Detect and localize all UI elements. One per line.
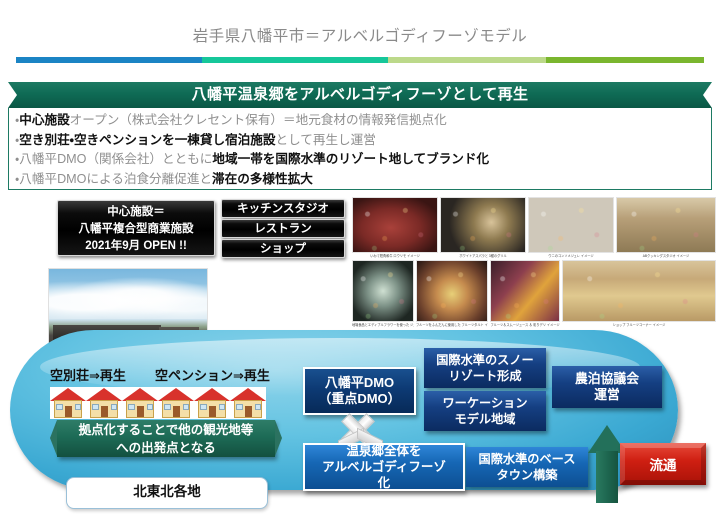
photo-cell-fruit-juice: フルーツ＆スムージュース ＆ 彩りデリ イメージ [490,260,560,327]
hub-line-1: 拠点化することで他の観光地等 [57,421,275,439]
label-empty-pension: 空ペンション⇒再生 [155,365,270,384]
basetown-line-1: 国際水準のベース [479,451,576,467]
rule-segment-2 [202,57,388,63]
house-icon [194,387,230,419]
pension-house-icons [158,387,266,419]
photo-cell-uni: ウニのコンソメジュレ イメージ [528,197,614,258]
dmo-line-2: （重点DMO） [318,391,400,407]
hub-line-2: への出発点となる [57,439,275,457]
photo-beef [352,197,438,253]
photo-cell-beef: いわて短角和牛 ロウリモ イメージ [352,197,438,258]
photo-cell-fruit-tart: フルーツをふんだんに使用した フルーツタルト イメージ [416,260,488,327]
cloud-layer [49,277,207,319]
page-title: 岩手県八幡平市＝アルベルゴディフーゾモデル [0,24,720,46]
photo-fruit-juice [490,260,560,322]
facility-line-1: 中心施設＝ [58,204,214,221]
bullet-text-4: 八幡平DMOによる泊食分離促進と [19,172,212,186]
bullet-item-3: ・八幡平DMO（関係会社）とともに地域一帯を国際水準のリゾート地してブランド化 [15,150,705,170]
rule-segment-1 [16,57,202,63]
photo-cell-asparagus: ホワイトアスパラと 3種のグリル [440,197,526,258]
label-shop: ショップ [221,239,345,258]
photo-collage: いわて短角和牛 ロウリモ イメージ ホワイトアスパラと 3種のグリル ウニのコン… [352,197,716,337]
photo-cell-fruit-shop: ショップ フルーツコーナー イメージ [562,260,716,327]
house-icon [86,387,122,419]
basetown-line-2: タウン構築 [479,467,576,483]
bullet-bold-2: 空き別荘・空きペンションを一棟貸し宿泊施設 [19,133,275,147]
bullet-text-1: オープン（株式会社クレセント保有）＝地元食材の情報発信拠点化 [70,113,447,127]
rule-segment-4 [546,57,704,63]
hub-statement-box: 拠点化することで他の観光地等 への出発点となる [57,420,275,457]
photo-row-top: いわて短角和牛 ロウリモ イメージ ホワイトアスパラと 3種のグリル ウニのコン… [352,197,716,258]
house-icon [50,387,86,419]
photo-cooking-studio [616,197,716,253]
noudomari-line-2: 運営 [575,387,639,403]
box-distribution: 流通 [620,443,706,485]
photo-jelly [352,260,414,322]
bullet-bold-1: 中心施設 [19,113,69,127]
box-workation: ワーケーション モデル地域 [424,391,546,431]
label-kitchen-studio: キッチンスタジオ [221,199,345,218]
label-empty-villa: 空別荘⇒再生 [50,365,126,384]
photo-uni [528,197,614,253]
bullet-bold-4: 滞在の多様性拡大 [212,172,313,186]
box-noudomari-council: 農泊協議会 運営 [552,366,662,408]
box-base-town: 国際水準のベース タウン構築 [466,447,588,487]
box-snow-resort: 国際水準のスノー リゾート形成 [424,348,546,388]
box-onsen-albergo-diffuso: 温泉郷全体を アルベルゴディフーゾ 化 [303,443,465,491]
bullet-panel: ・中心施設オープン（株式会社クレセント保有）＝地元食材の情報発信拠点化 ・空き別… [8,108,712,190]
workation-line-1: ワーケーション [442,395,527,411]
bullet-text-3: 八幡平DMO（関係会社）とともに [19,152,212,166]
box-hachimantai-dmo: 八幡平DMO （重点DMO） [303,367,416,415]
onsen-line-3: 化 [322,475,446,491]
facility-line-2: 八幡平複合型商業施設 [58,221,214,238]
villa-house-icons [50,387,158,419]
photo-asparagus [440,197,526,253]
house-icon [230,387,266,419]
house-icon [158,387,194,419]
onsen-line-2: アルベルゴディフーゾ [322,459,446,475]
center-facility-callout: 中心施設＝ 八幡平複合型商業施設 2021年9月 OPEN !! [57,200,215,256]
noudomari-line-1: 農泊協議会 [575,371,639,387]
house-icon [122,387,158,419]
facility-line-3: 2021年9月 OPEN !! [58,238,214,255]
rule-segment-3 [388,57,546,63]
photo-fruit-tart [416,260,488,322]
photo-cell-jelly: 地場食品とエディブルフラワーを使った ジュレ イメージ [352,260,414,327]
photo-cell-cooking-studio: ABクッキングスタジオ イメージ [616,197,716,258]
bullet-text-2: として再生し運営 [275,133,375,147]
onsen-line-1: 温泉郷全体を [322,443,446,459]
dmo-line-1: 八幡平DMO [318,375,400,391]
section-banner: 八幡平温泉郷をアルベルゴディフーゾとして再生 [8,82,712,108]
bullet-bold-3: 地域一帯を国際水準のリゾート地してブランド化 [212,152,489,166]
color-rule [16,57,704,63]
arrow-shaft [596,451,618,503]
slide-canvas: 岩手県八幡平市＝アルベルゴディフーゾモデル 八幡平温泉郷をアルベルゴディフーゾと… [0,0,720,526]
bullet-item-1: ・中心施設オープン（株式会社クレセント保有）＝地元食材の情報発信拠点化 [15,111,705,131]
photo-fruit-shop [562,260,716,322]
bullet-item-2: ・空き別荘・空きペンションを一棟貸し宿泊施設として再生し運営 [15,131,705,151]
snow-line-2: リゾート形成 [436,368,534,384]
bullet-item-4: ・八幡平DMOによる泊食分離促進と滞在の多様性拡大 [15,170,705,190]
box-kita-tohoku-regions: 北東北各地 [66,477,268,509]
photo-row-bottom: 地場食品とエディブルフラワーを使った ジュレ イメージ フルーツをふんだんに使用… [352,260,716,327]
label-restaurant: レストラン [221,219,345,238]
workation-line-2: モデル地域 [442,411,527,427]
snow-line-1: 国際水準のスノー [436,352,534,368]
